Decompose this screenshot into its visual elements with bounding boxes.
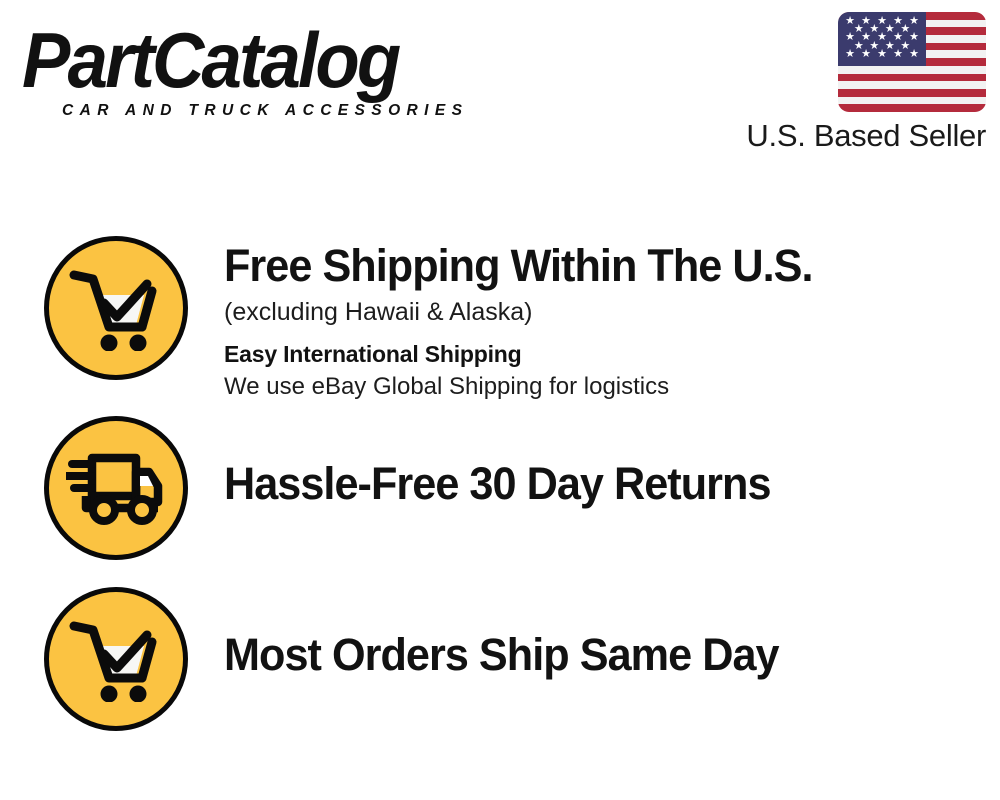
shopping-cart-check-icon [44, 587, 188, 731]
brand-wordmark: PartCatalog [22, 18, 459, 102]
flag-star-row: ★★★★★ [842, 50, 922, 58]
benefit-text: Free Shipping Within The U.S. (excluding… [188, 236, 1000, 403]
us-based-seller-badge: ★★★★★ ★★★★ ★★★★★ ★★★★ ★★★★★ U.S. Based S… [696, 12, 986, 154]
benefit-subtitle: (excluding Hawaii & Alaska) [224, 295, 1000, 329]
benefit-title: Most Orders Ship Same Day [224, 629, 969, 681]
flag-canton: ★★★★★ ★★★★ ★★★★★ ★★★★ ★★★★★ [838, 12, 926, 66]
shopping-cart-check-icon [44, 236, 188, 380]
benefit-row: Most Orders Ship Same Day [0, 587, 1000, 731]
us-flag-icon: ★★★★★ ★★★★ ★★★★★ ★★★★ ★★★★★ [838, 12, 986, 112]
benefit-row: Free Shipping Within The U.S. (excluding… [0, 236, 1000, 403]
benefit-row: Hassle-Free 30 Day Returns [0, 416, 1000, 560]
brand-logo[interactable]: PartCatalog CAR AND TRUCK ACCESSORIES [22, 18, 492, 118]
delivery-truck-icon [44, 416, 188, 560]
benefit-strong-line: Easy International Shipping [224, 338, 1000, 370]
benefit-text: Hassle-Free 30 Day Returns [188, 416, 1000, 510]
benefit-title: Hassle-Free 30 Day Returns [224, 458, 969, 510]
us-based-seller-label: U.S. Based Seller [696, 118, 986, 154]
brand-tagline: CAR AND TRUCK ACCESSORIES [62, 102, 468, 120]
benefit-note: We use eBay Global Shipping for logistic… [224, 371, 1000, 403]
benefit-text: Most Orders Ship Same Day [188, 587, 1000, 681]
benefit-title: Free Shipping Within The U.S. [224, 240, 969, 292]
